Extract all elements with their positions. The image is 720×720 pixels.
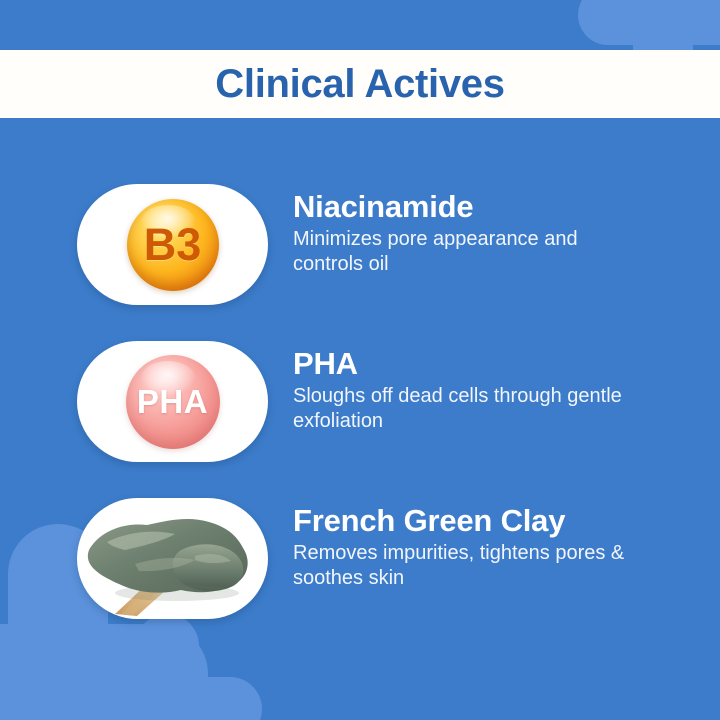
pha-droplet-icon: PHA [126,355,220,449]
ingredient-description: Sloughs off dead cells through gentle ex… [293,384,643,433]
ingredient-name: French Green Clay [293,504,720,537]
decorative-cross-bottom-left-small [72,614,262,720]
header-banner: Clinical Actives [0,50,720,118]
infographic-page: Clinical Actives B3 Niacinamide Minimize… [0,0,720,720]
ingredient-name: PHA [293,347,720,380]
vitamin-b3-capsule-icon: B3 [127,199,219,291]
french-green-clay-icon [77,498,268,619]
ingredient-row: PHA PHA Sloughs off dead cells through g… [0,341,720,462]
ingredient-name: Niacinamide [293,190,720,223]
ingredient-description: Minimizes pore appearance and controls o… [293,227,643,276]
ingredient-icon-card [77,498,268,619]
sphere-label: PHA [137,385,208,418]
ingredient-text-block: French Green Clay Removes impurities, ti… [293,498,720,590]
ingredient-icon-card: B3 [77,184,268,305]
ingredient-text-block: Niacinamide Minimizes pore appearance an… [293,184,720,276]
ingredient-row: French Green Clay Removes impurities, ti… [0,498,720,619]
sphere-label: B3 [144,222,202,267]
ingredient-text-block: PHA Sloughs off dead cells through gentl… [293,341,720,433]
page-title: Clinical Actives [215,64,504,104]
ingredient-description: Removes impurities, tightens pores & soo… [293,541,643,590]
ingredient-row: B3 Niacinamide Minimizes pore appearance… [0,184,720,305]
ingredient-icon-card: PHA [77,341,268,462]
